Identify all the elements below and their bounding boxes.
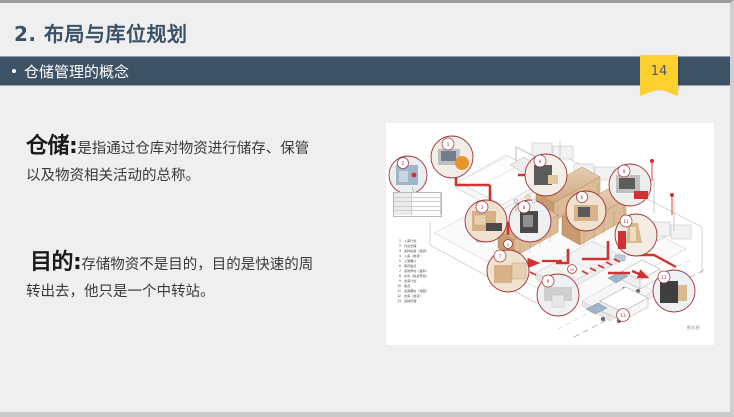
svg-text:5: 5 — [507, 243, 509, 247]
svg-text:1: 1 — [447, 142, 450, 148]
purpose-body-line2: 转出去，他只是一个中转站。 — [26, 284, 215, 300]
diagram-watermark: 图式图 — [687, 325, 700, 331]
definition-paragraph: 仓储:是指通过仓库对物资进行储存、保管 以及物资相关活动的总称。 — [26, 131, 366, 187]
svg-text:6: 6 — [581, 195, 584, 200]
svg-text:9: 9 — [547, 279, 550, 285]
purpose-paragraph: 目的:存储物资不是目的，目的是快速的周 转出去，他只是一个中转站。 — [26, 247, 366, 303]
purpose-lead: 目的: — [26, 250, 81, 275]
svg-text:3: 3 — [481, 205, 484, 211]
svg-text:2: 2 — [402, 161, 405, 166]
subtitle-label: 仓储管理的概念 — [24, 61, 129, 82]
svg-text:4: 4 — [539, 159, 542, 165]
definition-body: 是指通过仓库对物资进行储存、保管 — [77, 141, 309, 157]
svg-text:7: 7 — [499, 254, 502, 260]
page-number-badge: 14 — [640, 55, 678, 89]
svg-text:10: 10 — [570, 268, 575, 272]
diagram-info-table — [393, 192, 442, 217]
page-title: 2. 布局与库位规划 — [14, 18, 187, 47]
legend-item: 13运输管理 — [394, 299, 429, 304]
warehouse-flow-diagram: 3 5 10 1 — [386, 123, 714, 345]
page-number-label: 14 — [640, 64, 678, 79]
svg-text:11: 11 — [623, 219, 629, 224]
svg-text:9: 9 — [623, 169, 626, 175]
slide-canvas: 2. 布局与库位规划 仓储管理的概念 14 仓储:是指通过仓库对物资进行储存、保… — [0, 0, 734, 417]
subtitle-bar: 仓储管理的概念 — [0, 56, 734, 86]
legend-label: 运输管理 — [404, 299, 416, 304]
svg-text:12: 12 — [661, 275, 667, 280]
body-text-block: 仓储:是指通过仓库对物资进行储存、保管 以及物资相关活动的总称。 目的:存储物资… — [26, 131, 366, 303]
svg-text:8: 8 — [523, 205, 526, 211]
definition-body-line2: 以及物资相关活动的总称。 — [26, 168, 200, 184]
definition-lead: 仓储: — [26, 134, 77, 159]
purpose-body: 存储物资不是目的，目的是快速的周 — [81, 257, 313, 273]
diagram-image-panel: 3 5 10 1 — [386, 123, 714, 345]
diagram-legend: 1入库计划 2月台管理 3来料检验（验货） 4入库（收货） 5上架确认 6库存盘… — [394, 239, 429, 304]
bullet-icon — [12, 69, 16, 73]
svg-text:13: 13 — [620, 313, 626, 319]
